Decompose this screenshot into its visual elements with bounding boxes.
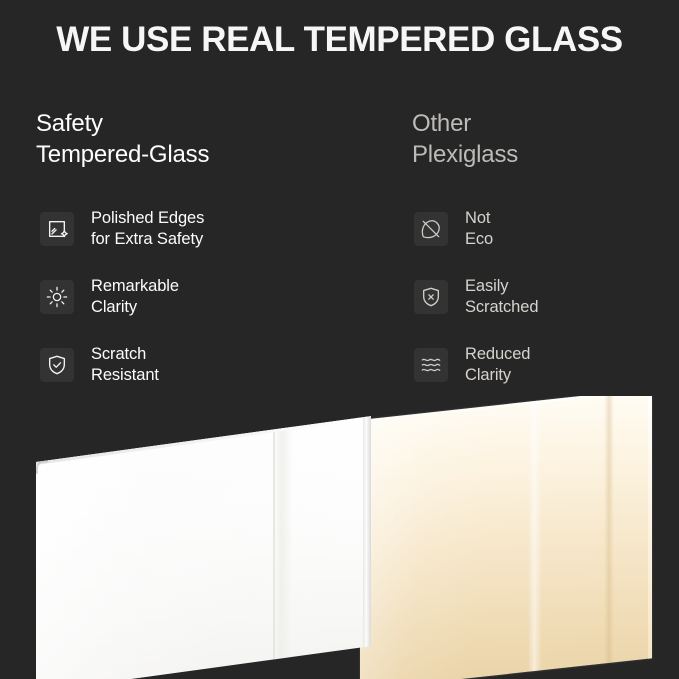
tempered-glass-polished-corner <box>36 460 48 474</box>
column-right-title: Other Plexiglass <box>412 108 672 170</box>
feature-label-line2: Clarity <box>465 365 530 386</box>
column-left-header: Safety Tempered-Glass <box>36 108 366 170</box>
feature-list-plexiglass: Not Eco Easily Scratched <box>414 206 674 388</box>
feature-label-line1: Reduced <box>465 345 530 363</box>
feature-label: Remarkable Clarity <box>91 276 179 318</box>
product-photo-glass-panels <box>0 396 679 679</box>
plexiglass-panel <box>360 396 652 679</box>
tempered-glass-reflection-band <box>274 427 292 659</box>
feature-item: Easily Scratched <box>414 274 674 320</box>
column-left-title: Safety Tempered-Glass <box>36 108 366 170</box>
shield-x-icon <box>414 280 448 314</box>
tempered-glass-top-edge <box>36 416 371 465</box>
feature-item: Reduced Clarity <box>414 342 674 388</box>
leaf-crossed-out-icon <box>414 212 448 246</box>
feature-item: Scratch Resistant <box>40 342 370 388</box>
column-right-title-line2: Plexiglass <box>412 139 672 170</box>
feature-label-line1: Easily <box>465 277 508 295</box>
plexiglass-reflection-band-secondary <box>604 396 614 663</box>
column-left-title-line1: Safety <box>36 110 103 137</box>
feature-label: Reduced Clarity <box>465 344 530 386</box>
page-title: WE USE REAL TEMPERED GLASS <box>0 18 679 62</box>
plexiglass-right-edge <box>648 396 652 659</box>
feature-label: Scratch Resistant <box>91 344 159 386</box>
plexiglass-reflection-band <box>528 400 542 672</box>
feature-label-line1: Remarkable <box>91 277 179 295</box>
feature-label: Not Eco <box>465 208 493 250</box>
wavy-lines-icon <box>414 348 448 382</box>
feature-label: Easily Scratched <box>465 276 538 318</box>
feature-label-line2: Scratched <box>465 297 538 318</box>
feature-label-line2: Clarity <box>91 297 179 318</box>
feature-list-tempered-glass: Polished Edges for Extra Safety Remarkab… <box>40 206 370 388</box>
feature-item: Polished Edges for Extra Safety <box>40 206 370 252</box>
feature-label-line2: for Extra Safety <box>91 229 204 250</box>
column-right-title-line1: Other <box>412 110 471 137</box>
column-right-header: Other Plexiglass <box>412 108 672 170</box>
feature-label-line1: Not <box>465 209 490 227</box>
feature-item: Not Eco <box>414 206 674 252</box>
comparison-infographic: WE USE REAL TEMPERED GLASS Safety Temper… <box>0 0 679 679</box>
feature-label-line2: Resistant <box>91 365 159 386</box>
feature-label-line1: Polished Edges <box>91 209 204 227</box>
tempered-glass-right-edge <box>363 416 371 647</box>
feature-label-line1: Scratch <box>91 345 146 363</box>
feature-label: Polished Edges for Extra Safety <box>91 208 204 250</box>
column-left-title-line2: Tempered-Glass <box>36 139 366 170</box>
sun-brightness-icon <box>40 280 74 314</box>
polished-glass-sparkle-icon <box>40 212 74 246</box>
tempered-glass-panel <box>36 416 371 679</box>
shield-check-icon <box>40 348 74 382</box>
feature-item: Remarkable Clarity <box>40 274 370 320</box>
feature-label-line2: Eco <box>465 229 493 250</box>
